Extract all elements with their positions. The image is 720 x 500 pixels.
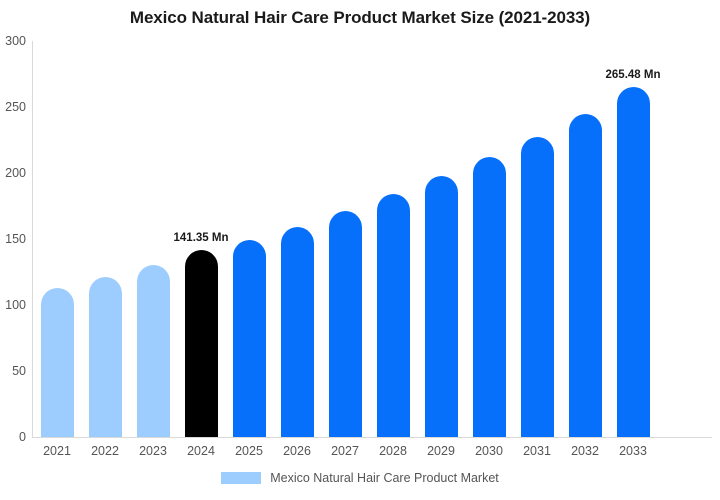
chart-title: Mexico Natural Hair Care Product Market …: [0, 8, 720, 28]
bar-2022[interactable]: [89, 277, 122, 437]
x-axis-tick-2033: 2033: [603, 444, 663, 458]
bar-2024[interactable]: [185, 250, 218, 437]
bar-2031[interactable]: [521, 137, 554, 437]
bar-2021[interactable]: [41, 288, 74, 437]
y-axis-tick-200: 200: [0, 166, 26, 180]
bar-2030[interactable]: [473, 157, 506, 437]
bar-group-2022[interactable]: [89, 277, 122, 437]
bar-group-2029[interactable]: [425, 176, 458, 437]
plot-area: 141.35 Mn265.48 Mn: [32, 41, 712, 437]
legend-label-mexico-natural-hair-care-product-market: Mexico Natural Hair Care Product Market: [270, 472, 499, 485]
bar-group-2026[interactable]: [281, 227, 314, 437]
bar-chart: Mexico Natural Hair Care Product Market …: [0, 0, 720, 500]
bar-group-2033[interactable]: 265.48 Mn: [617, 87, 650, 437]
bar-group-2024[interactable]: 141.35 Mn: [185, 250, 218, 437]
bar-2029[interactable]: [425, 176, 458, 437]
bar-group-2032[interactable]: [569, 114, 602, 437]
bar-group-2021[interactable]: [41, 288, 74, 437]
bar-value-label-2033: 265.48 Mn: [606, 69, 661, 81]
bar-group-2030[interactable]: [473, 157, 506, 437]
bar-2032[interactable]: [569, 114, 602, 437]
y-axis-tick-150: 150: [0, 232, 26, 246]
bar-group-2025[interactable]: [233, 240, 266, 437]
bar-2028[interactable]: [377, 194, 410, 437]
x-axis-line: [32, 437, 712, 438]
bar-group-2023[interactable]: [137, 265, 170, 437]
y-axis-tick-50: 50: [0, 364, 26, 378]
y-axis-tick-0: 0: [0, 430, 26, 444]
bar-2033[interactable]: [617, 87, 650, 437]
bar-group-2031[interactable]: [521, 137, 554, 437]
bar-2027[interactable]: [329, 211, 362, 437]
bar-group-2027[interactable]: [329, 211, 362, 437]
bar-group-2028[interactable]: [377, 194, 410, 437]
bar-2023[interactable]: [137, 265, 170, 437]
chart-legend: Mexico Natural Hair Care Product Market: [0, 472, 720, 485]
y-axis-tick-300: 300: [0, 34, 26, 48]
bar-2026[interactable]: [281, 227, 314, 437]
bar-value-label-2024: 141.35 Mn: [174, 232, 229, 244]
y-axis-tick-250: 250: [0, 100, 26, 114]
bar-2025[interactable]: [233, 240, 266, 437]
legend-swatch-mexico-natural-hair-care-product-market: [221, 472, 261, 484]
y-axis-tick-100: 100: [0, 298, 26, 312]
